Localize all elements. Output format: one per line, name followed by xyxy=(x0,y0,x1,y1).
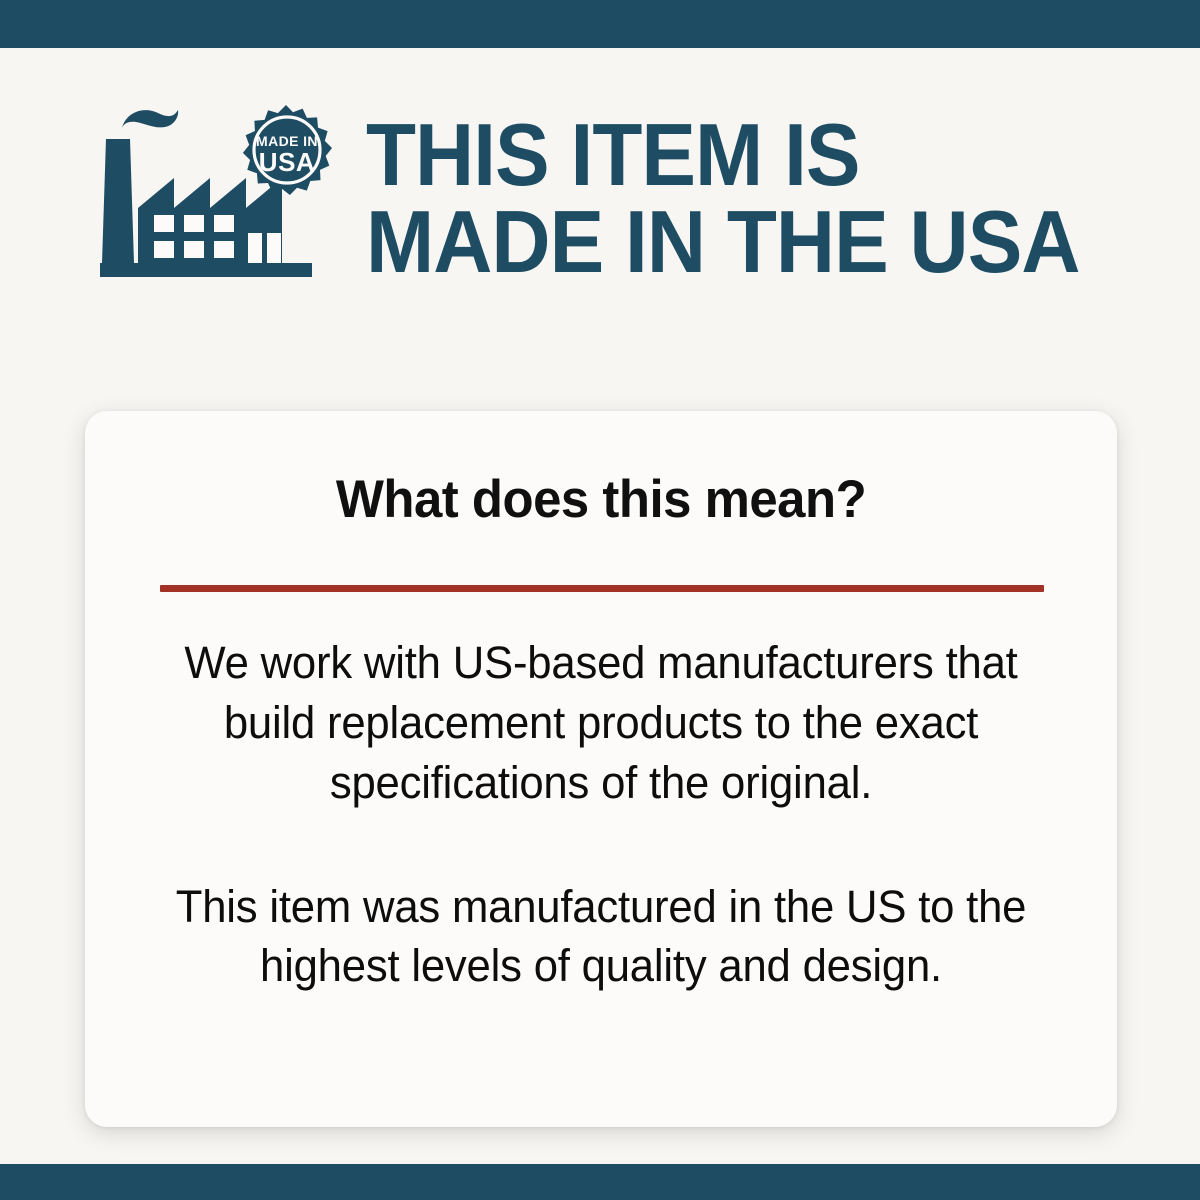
page-canvas: MADE IN USA THIS ITEM IS MADE IN THE USA… xyxy=(0,48,1200,1164)
bottom-accent-bar xyxy=(0,1164,1200,1200)
made-in-usa-seal-icon: MADE IN USA xyxy=(243,105,332,195)
factory-icon: MADE IN USA xyxy=(100,103,332,283)
card-paragraph-1: We work with US-based manufacturers that… xyxy=(135,633,1066,813)
header: MADE IN USA THIS ITEM IS MADE IN THE USA xyxy=(100,103,1140,288)
seal-line-2: USA xyxy=(259,147,315,177)
card-paragraph-2: This item was manufactured in the US to … xyxy=(135,877,1066,997)
brand-mark: MADE IN USA xyxy=(100,103,332,283)
card-heading: What does this mean? xyxy=(106,469,1097,530)
page-title-line-1: THIS ITEM IS xyxy=(366,111,1086,198)
top-accent-bar xyxy=(0,0,1200,48)
card-body: We work with US-based manufacturers that… xyxy=(135,633,1066,996)
card-divider xyxy=(160,585,1044,592)
page-title: THIS ITEM IS MADE IN THE USA xyxy=(366,103,1086,285)
page-title-line-2: MADE IN THE USA xyxy=(366,198,1086,285)
explanation-card: What does this mean? We work with US-bas… xyxy=(85,411,1117,1127)
